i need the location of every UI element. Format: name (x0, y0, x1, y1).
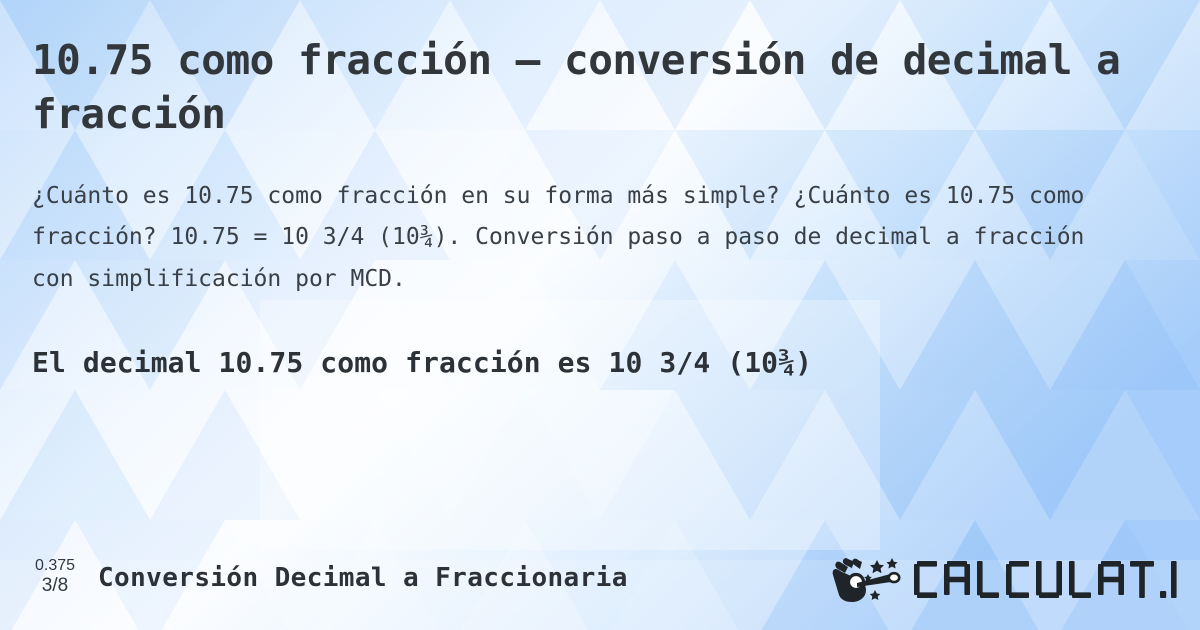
page-title: 10.75 como fracción – conversión de deci… (32, 33, 1142, 141)
hand-magic-wand-icon (833, 558, 900, 602)
footer: 0.375 3/8 Conversión Decimal a Fracciona… (0, 556, 1200, 608)
calculatio-wordmark (914, 561, 1182, 598)
badge-decimal-value: 0.375 (24, 558, 86, 575)
answer-statement: El decimal 10.75 como fracción es 10 3/4… (32, 345, 1182, 380)
badge-fraction-value: 3/8 (24, 576, 86, 596)
page-intro-text: ¿Cuánto es 10.75 como fracción en su for… (32, 176, 1122, 300)
fraction-badge: 0.375 3/8 (24, 558, 86, 596)
share-card: 10.75 como fracción – conversión de deci… (0, 0, 1200, 630)
calculatio-logo[interactable] (830, 556, 1182, 604)
site-tagline: Conversión Decimal a Fraccionaria (98, 563, 628, 593)
